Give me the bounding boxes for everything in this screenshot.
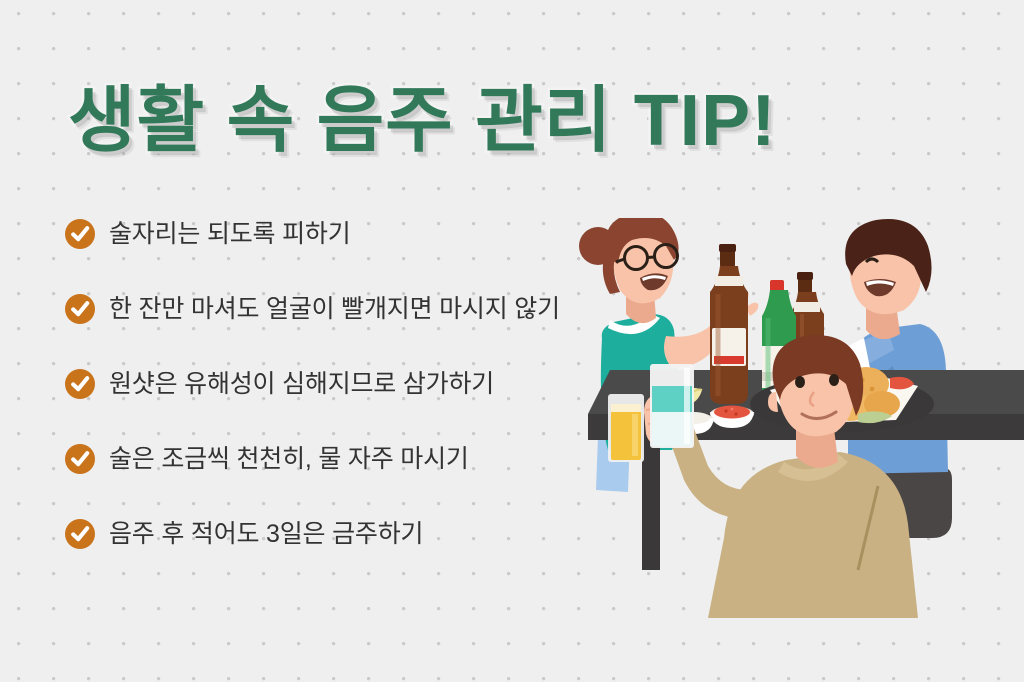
illustration-svg [548, 218, 1024, 618]
check-circle-icon [64, 518, 96, 550]
list-item-label: 술은 조금씩 천천히, 물 자주 마시기 [109, 442, 469, 476]
water-glass-teal [650, 364, 694, 448]
check-circle-icon [64, 293, 96, 325]
check-circle-icon [64, 368, 96, 400]
beer-glass-yellow [608, 394, 644, 462]
list-item-label: 음주 후 적어도 3일은 금주하기 [109, 517, 423, 551]
tan-eye-left [795, 376, 805, 388]
page-title: 생활 속 음주 관리 TIP! [68, 78, 884, 164]
list-item-label: 원샷은 유해성이 심해지므로 삼가하기 [109, 367, 494, 401]
infographic-poster: 생활 속 음주 관리 TIP! 술자리는 되도록 피하기 한 잔만 마셔도 얼굴… [0, 0, 1024, 682]
list-item-label: 술자리는 되도록 피하기 [109, 217, 351, 251]
check-circle-icon [64, 443, 96, 475]
beer-bottle-brown [710, 244, 748, 404]
tan-eye-right [829, 374, 839, 386]
list-item-label: 한 잔만 마셔도 얼굴이 빨개지면 마시지 않기 [109, 292, 560, 326]
check-circle-icon [64, 218, 96, 250]
title-block: 생활 속 음주 관리 TIP! [68, 78, 868, 170]
table-leg [642, 440, 660, 570]
people-drinking-at-table-illustration [548, 218, 1024, 618]
